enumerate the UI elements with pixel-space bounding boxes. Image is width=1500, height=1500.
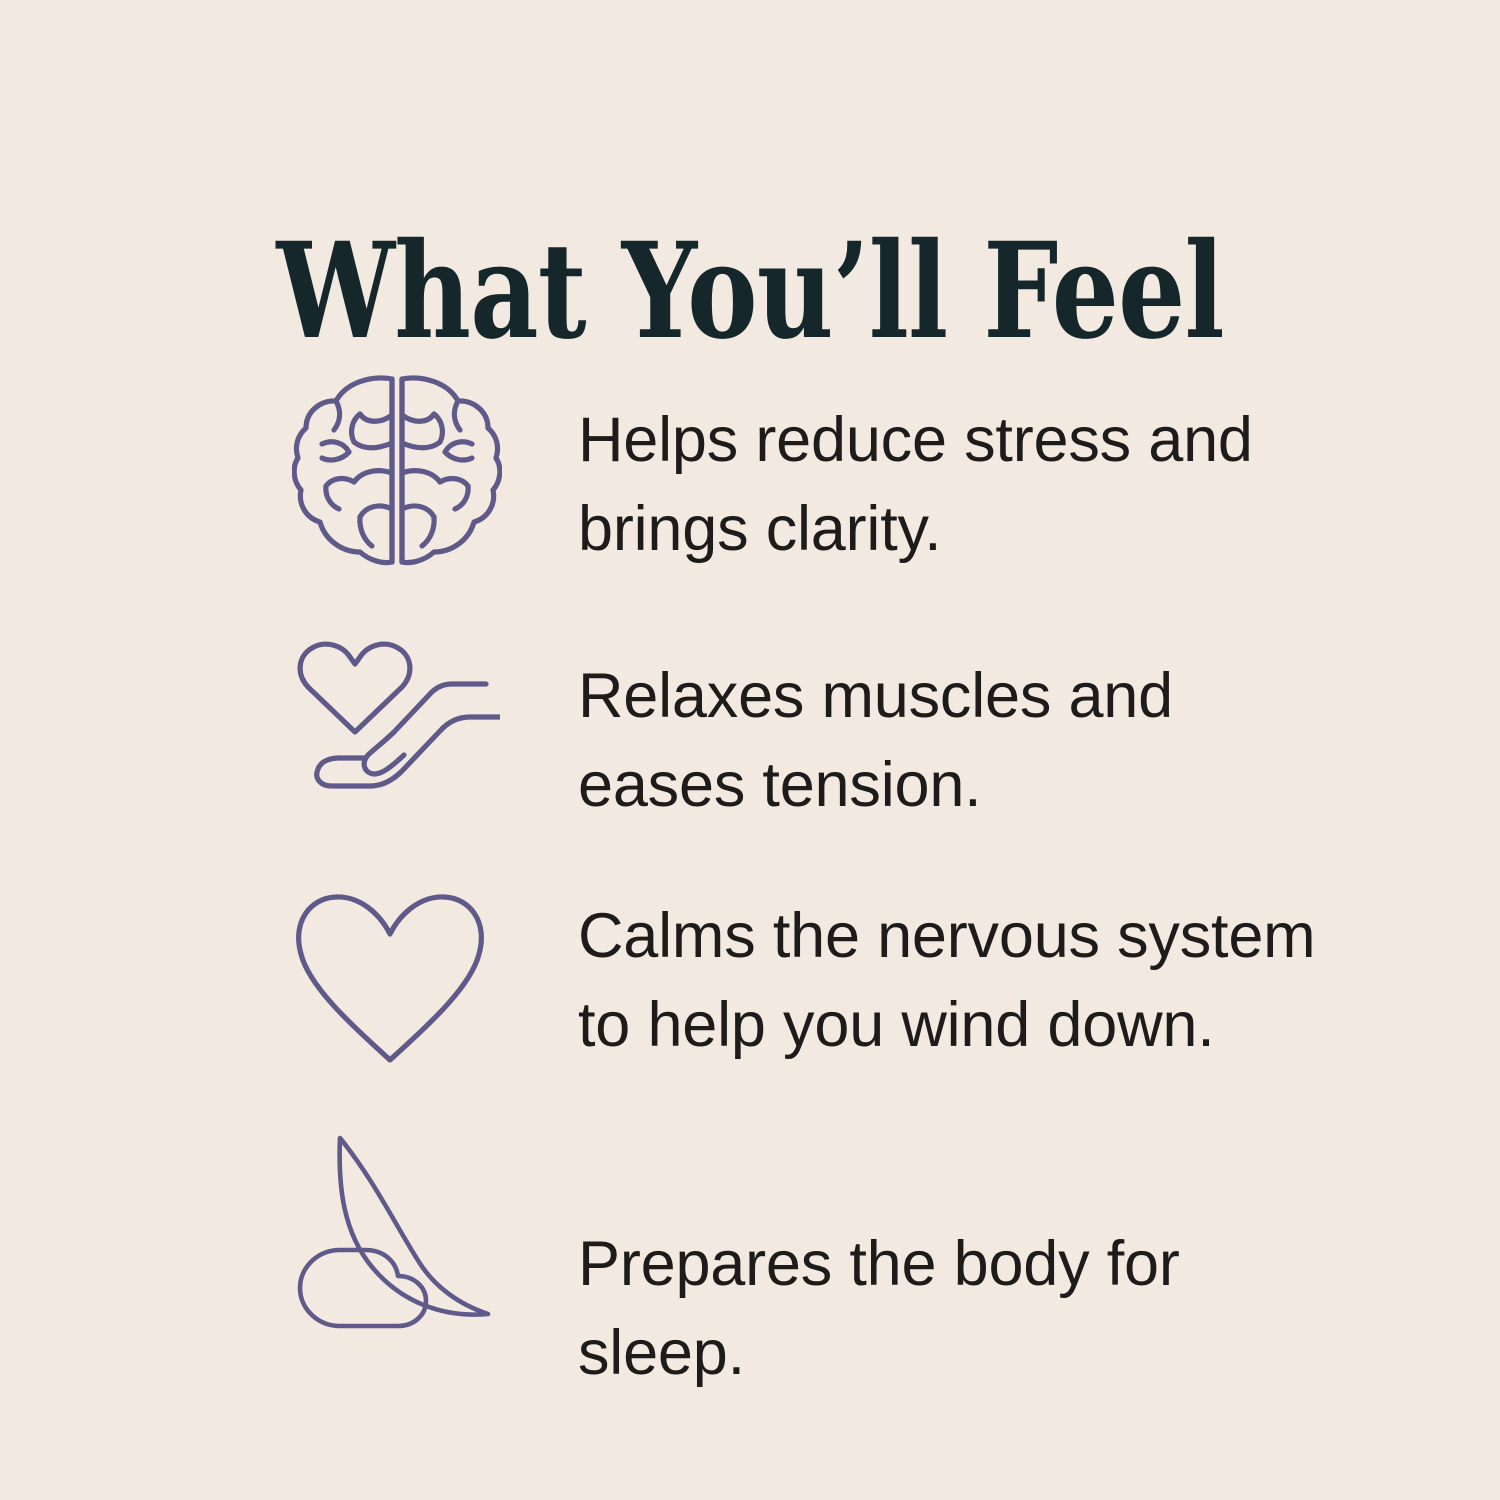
benefit-text: Calms the nervous system to help you win… [578,870,1338,1071]
benefit-icon-cell [278,1128,578,1334]
benefit-row: Relaxes muscles and eases tension. [278,618,1338,870]
crescent-moon-cloud-icon [288,1128,506,1334]
brain-icon [292,372,502,568]
heart-in-hand-icon [292,640,500,806]
benefit-icon-cell [278,618,578,806]
benefits-list: Helps reduce stress and brings clarity. … [278,368,1338,1378]
heart-outline-icon [292,892,488,1064]
benefit-row: Calms the nervous system to help you win… [278,870,1338,1128]
benefit-text: Prepares the body for sleep. [578,1128,1338,1399]
benefits-poster: What You’ll Feel [0,0,1500,1500]
benefit-icon-cell [278,870,578,1064]
page-title: What You’ll Feel [276,226,1223,358]
benefit-row: Helps reduce stress and brings clarity. [278,368,1338,618]
benefit-row: Prepares the body for sleep. [278,1128,1338,1378]
benefit-text: Helps reduce stress and brings clarity. [578,368,1338,575]
benefit-text: Relaxes muscles and eases tension. [578,618,1338,831]
benefit-icon-cell [278,368,578,568]
